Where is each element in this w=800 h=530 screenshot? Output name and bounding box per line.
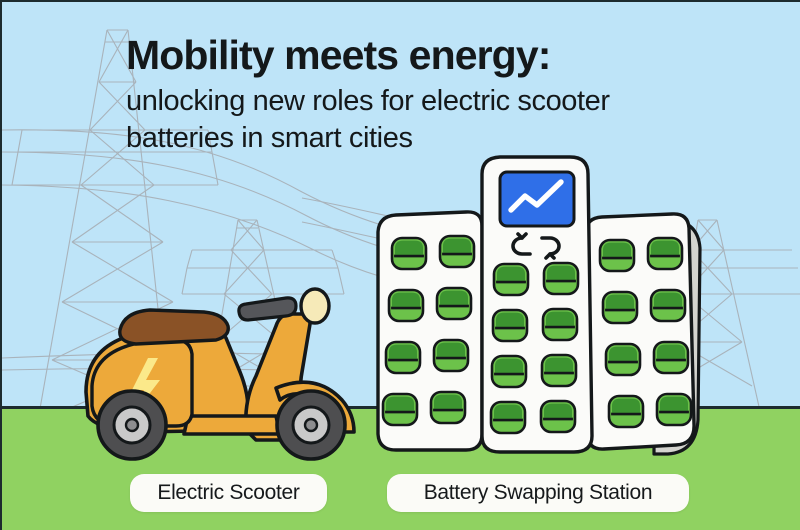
subtitle-line-2: batteries in smart cities <box>126 122 413 154</box>
subtitle-line-1: unlocking new roles for electric scooter <box>126 85 610 117</box>
station-screen[interactable] <box>500 172 574 226</box>
left-cabinet <box>378 212 482 450</box>
scooter-headlight <box>301 289 329 323</box>
center-cabinet <box>482 157 592 452</box>
label-battery-swapping-station-text: Battery Swapping Station <box>424 481 653 505</box>
page-subtitle: unlocking new roles for electric scooter… <box>126 83 766 157</box>
electric-scooter <box>80 280 365 465</box>
scooter-seat <box>120 310 228 344</box>
rear-wheel <box>98 391 166 459</box>
scooter-footboard <box>184 416 280 434</box>
label-battery-swapping-station: Battery Swapping Station <box>387 474 689 512</box>
right-cabinet <box>586 214 700 454</box>
scooter-handlebar <box>239 298 296 320</box>
page-title: Mobility meets energy: <box>126 35 766 77</box>
label-electric-scooter: Electric Scooter <box>130 474 327 512</box>
front-wheel <box>277 391 345 459</box>
infographic-scene: Mobility meets energy: unlocking new rol… <box>0 0 800 530</box>
label-electric-scooter-text: Electric Scooter <box>157 481 299 505</box>
headline-block: Mobility meets energy: unlocking new rol… <box>126 35 766 157</box>
battery-swapping-station <box>354 152 714 467</box>
